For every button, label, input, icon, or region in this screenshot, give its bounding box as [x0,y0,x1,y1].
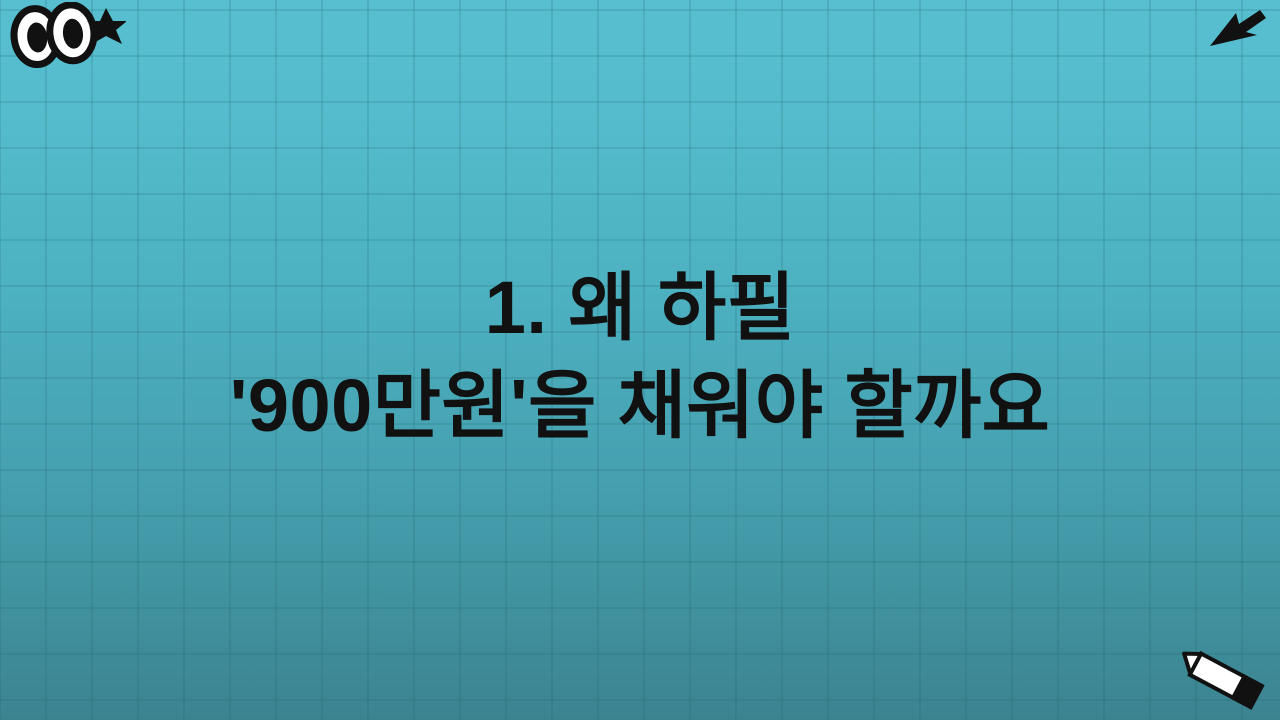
page-title: 1. 왜 하필 '900만원'을 채워야 할까요 [230,259,1051,456]
slide-canvas: 1. 왜 하필 '900만원'을 채워야 할까요 [0,0,1280,720]
title-block: 1. 왜 하필 '900만원'을 채워야 할까요 [0,0,1280,720]
title-line-1: 1. 왜 하필 [230,259,1051,357]
title-line-2: '900만원'을 채워야 할까요 [230,357,1051,455]
